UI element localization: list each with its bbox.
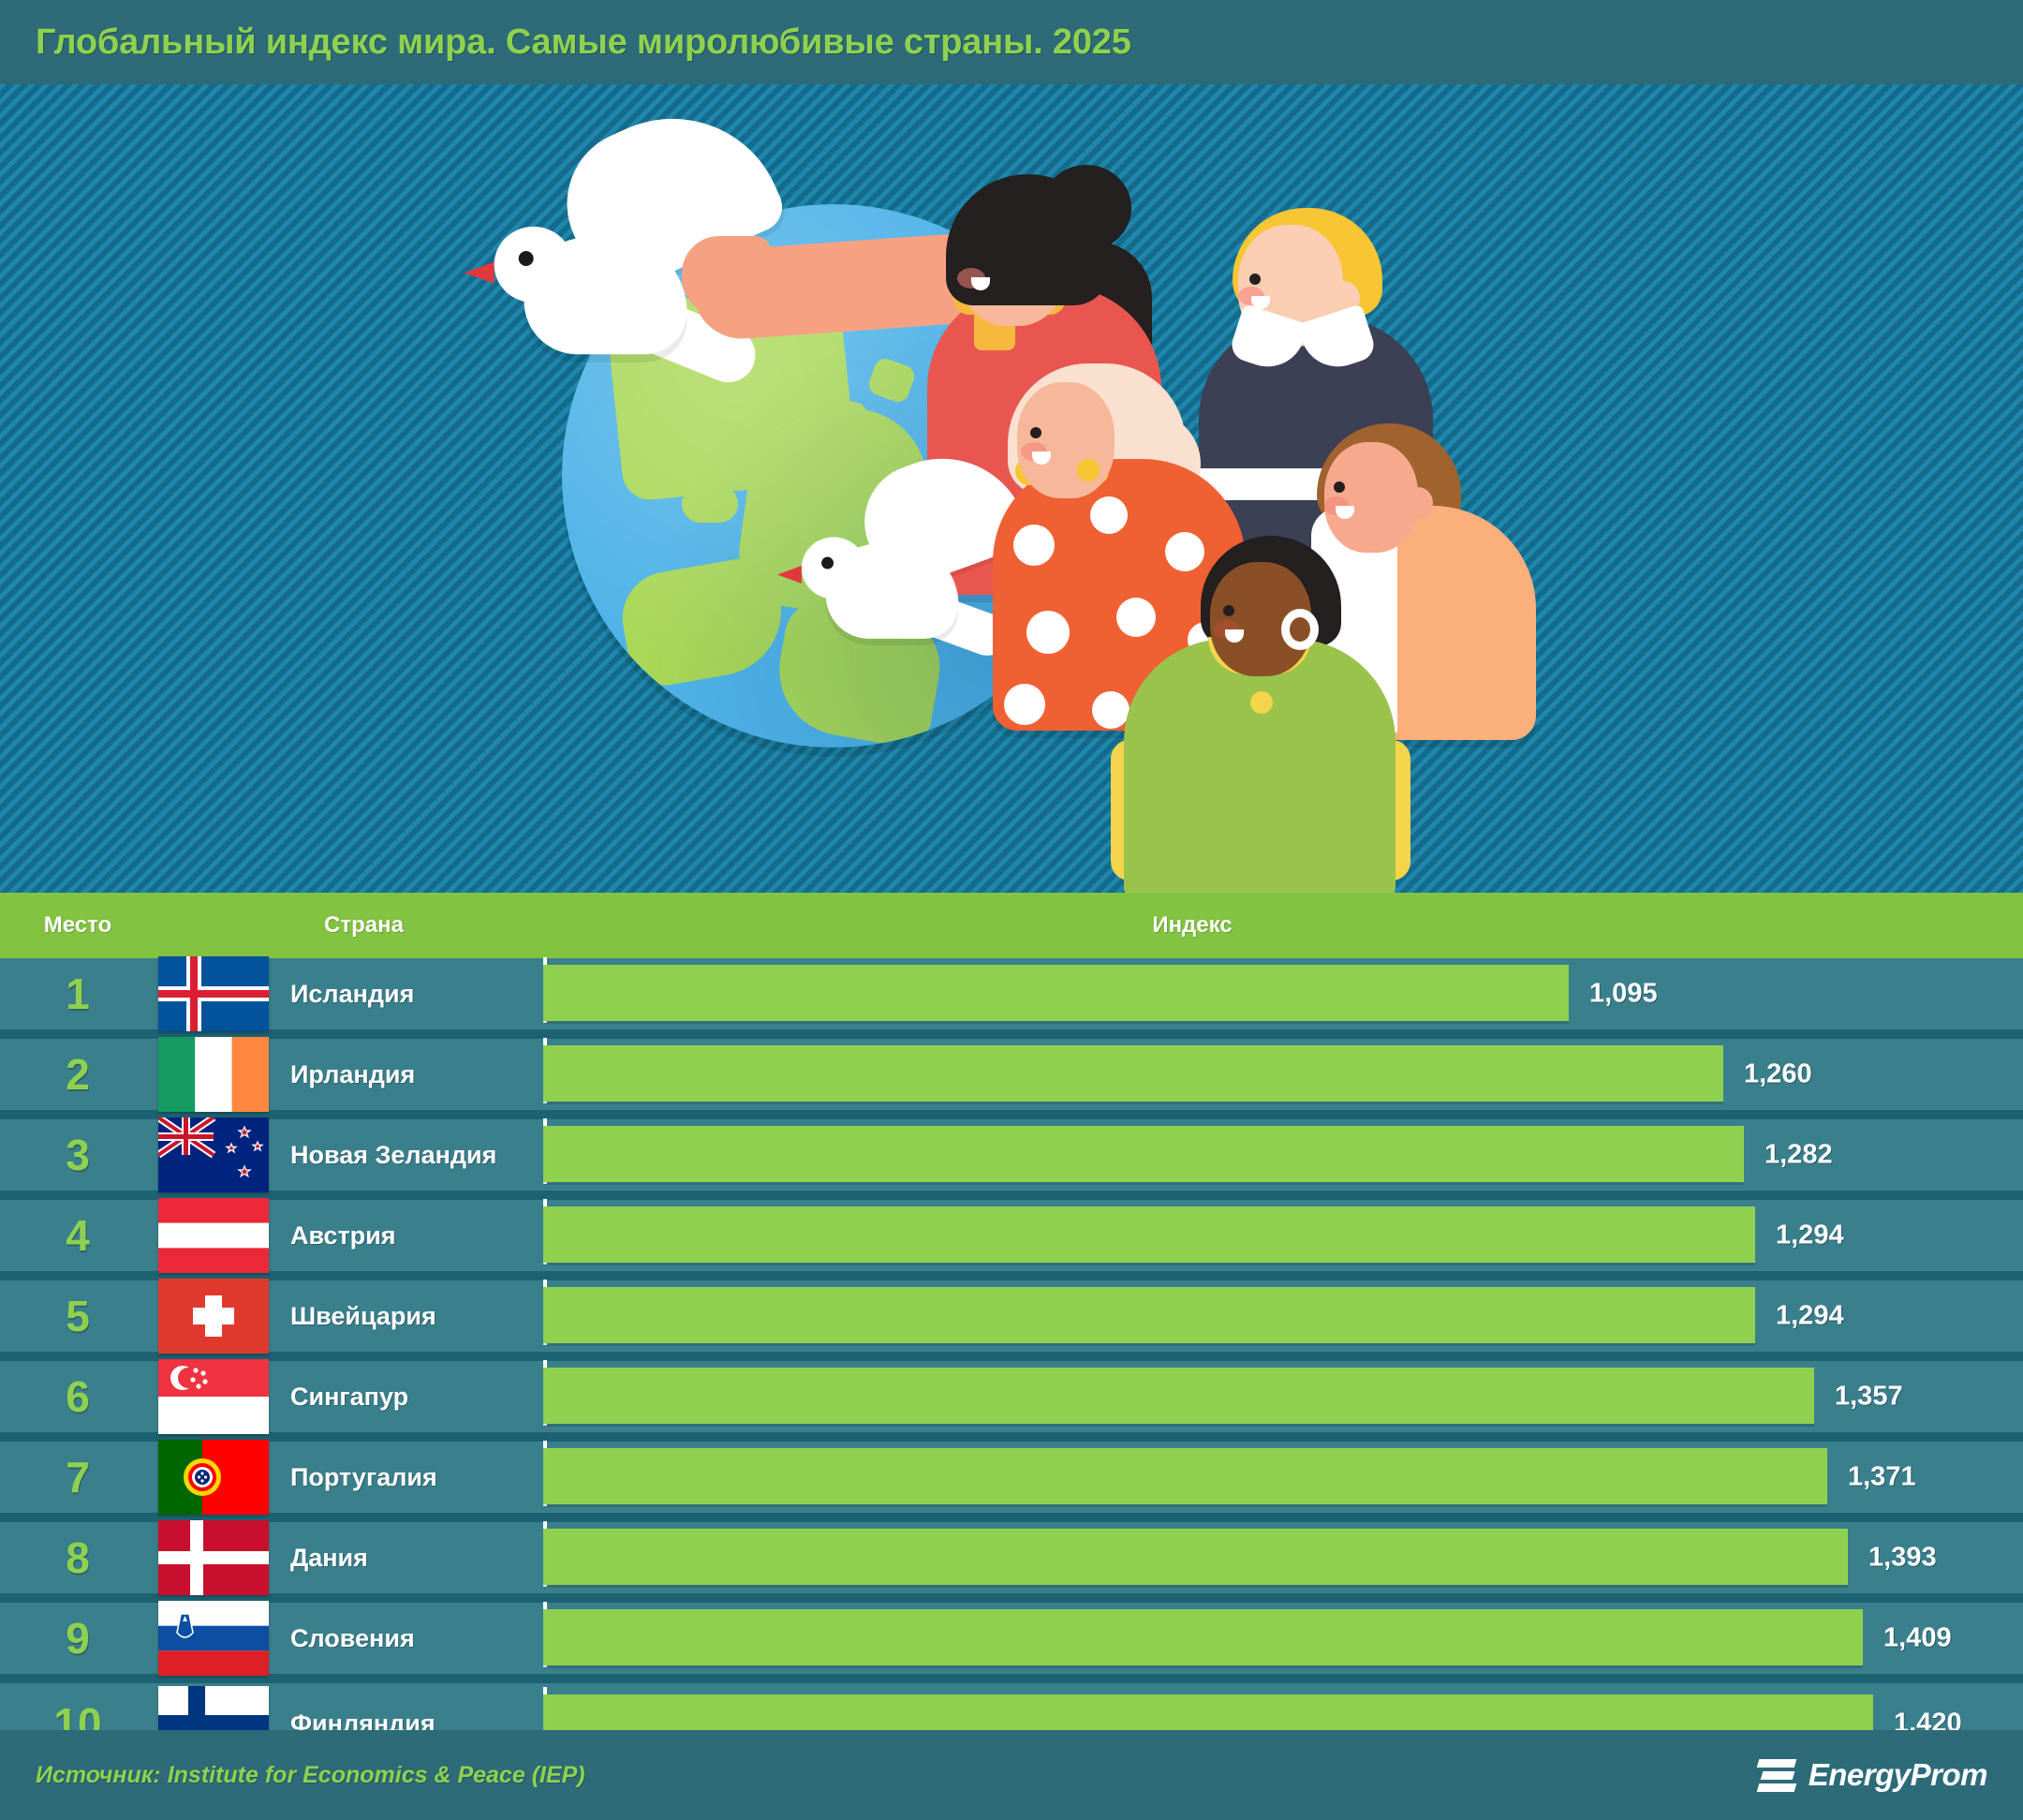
iceland-flag (155, 956, 272, 1031)
value-bar (543, 1126, 1744, 1182)
country-name: Сингапур (272, 1383, 543, 1412)
rank-number: 6 (0, 1371, 155, 1422)
illustration-canvas (0, 84, 2023, 893)
table-row: 4 Австрия 1,294 (0, 1200, 2023, 1280)
bar-cell: 1,260 (543, 1034, 2023, 1115)
country-name: Исландия (272, 980, 543, 1009)
country-name: Дания (272, 1544, 543, 1573)
country-name: Новая Зеландия (272, 1141, 543, 1170)
bar-cell: 1,393 (543, 1517, 2023, 1598)
value-bar (543, 965, 1569, 1021)
table-row: 6 Сингапур 1,357 (0, 1361, 2023, 1442)
bar-cell: 1,095 (543, 954, 2023, 1034)
rank-number: 2 (0, 1049, 155, 1100)
country-name: Ирландия (272, 1060, 543, 1089)
rank-number: 5 (0, 1291, 155, 1341)
singapore-flag (155, 1359, 272, 1434)
page-title: Глобальный индекс мира. Самые миролюбивы… (36, 22, 1131, 63)
country-name: Португалия (272, 1463, 543, 1492)
value-label: 1,282 (1765, 1140, 1833, 1171)
value-bar (543, 1609, 1863, 1665)
rank-number: 7 (0, 1452, 155, 1502)
table-row: 7 Португалия 1,371 (0, 1442, 2023, 1522)
switzerland-flag (155, 1279, 272, 1354)
rank-number: 3 (0, 1130, 155, 1180)
ranking-table: 1 Исландия 1,095 2 Ирландия 1,260 3 Нова… (0, 958, 2023, 1764)
austria-flag (155, 1198, 272, 1273)
value-label: 1,095 (1589, 979, 1658, 1010)
bar-cell: 1,371 (543, 1437, 2023, 1517)
rank-number: 4 (0, 1210, 155, 1261)
rank-number: 8 (0, 1532, 155, 1583)
portugal-flag (155, 1440, 272, 1515)
value-label: 1,357 (1835, 1382, 1903, 1413)
bar-cell: 1,294 (543, 1276, 2023, 1356)
rank-number: 1 (0, 969, 155, 1019)
table-row: 5 Швейцария 1,294 (0, 1280, 2023, 1361)
table-row: 8 Дания 1,393 (0, 1522, 2023, 1603)
brand-name: EnergyProm (1809, 1757, 1987, 1793)
value-label: 1,294 (1776, 1221, 1844, 1251)
source-note: Источник: Institute for Economics & Peac… (36, 1762, 585, 1789)
table-row: 3 Новая Зеландия 1,282 (0, 1119, 2023, 1200)
rank-number: 9 (0, 1613, 155, 1664)
value-label: 1,371 (1848, 1462, 1916, 1493)
value-bar (543, 1045, 1723, 1102)
country-name: Швейцария (272, 1302, 543, 1331)
table-row: 1 Исландия 1,095 (0, 958, 2023, 1039)
country-name: Австрия (272, 1221, 543, 1250)
denmark-flag (155, 1520, 272, 1595)
energyprom-mark-icon (1758, 1755, 1797, 1795)
brand-logo: EnergyProm (1758, 1755, 1987, 1795)
column-header-index: Индекс (558, 912, 2023, 939)
new-zealand-flag (155, 1117, 272, 1192)
value-label: 1,409 (1883, 1623, 1952, 1654)
slovenia-flag (155, 1601, 272, 1676)
value-bar (543, 1206, 1755, 1263)
country-name: Словения (272, 1624, 543, 1653)
table-header: Место Страна Индекс (0, 893, 2023, 958)
value-bar (543, 1448, 1827, 1504)
table-row: 9 Словения 1,409 (0, 1603, 2023, 1683)
value-label: 1,393 (1868, 1543, 1937, 1574)
column-header-country: Страна (155, 912, 558, 939)
column-header-place: Место (0, 912, 155, 939)
value-bar (543, 1529, 1848, 1585)
table-row: 2 Ирландия 1,260 (0, 1039, 2023, 1119)
bar-cell: 1,357 (543, 1356, 2023, 1437)
hero-illustration (0, 84, 2023, 893)
infographic-page: Глобальный индекс мира. Самые миролюбивы… (0, 0, 2023, 1820)
ireland-flag (155, 1037, 272, 1112)
value-bar (543, 1368, 1814, 1424)
value-label: 1,294 (1776, 1301, 1844, 1332)
value-bar (543, 1287, 1755, 1343)
bar-cell: 1,294 (543, 1195, 2023, 1276)
value-label: 1,260 (1744, 1059, 1812, 1090)
bar-cell: 1,409 (543, 1598, 2023, 1679)
footer: Источник: Institute for Economics & Peac… (0, 1730, 2023, 1820)
bar-cell: 1,282 (543, 1115, 2023, 1195)
title-bar: Глобальный индекс мира. Самые миролюбивы… (0, 0, 2023, 84)
